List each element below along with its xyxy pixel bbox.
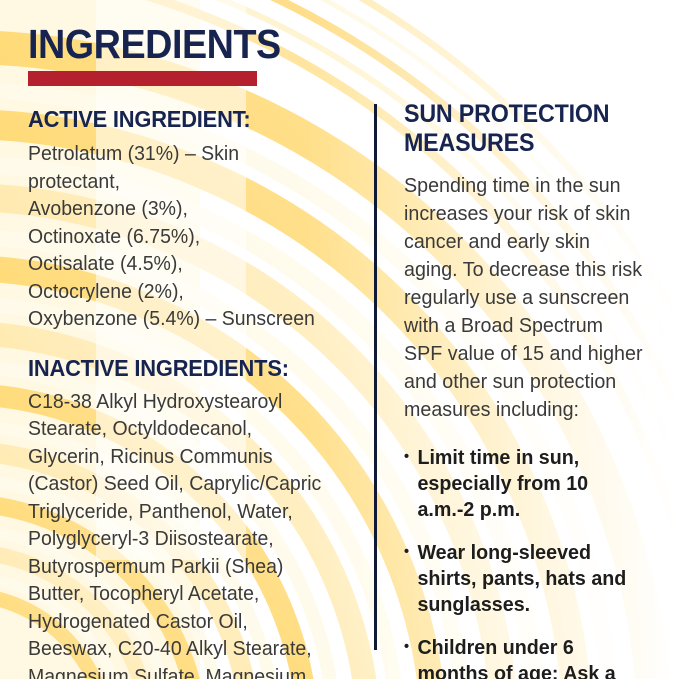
sun-protection-column: SUN PROTECTION MEASURES Spending time in… <box>404 100 654 679</box>
active-ingredient-item: Octisalate (4.5%), <box>28 250 324 278</box>
inactive-ingredients-heading: INACTIVE INGREDIENTS: <box>28 355 318 381</box>
list-item: Children under 6 months of age: Ask a do… <box>404 635 644 679</box>
active-ingredient-item: Avobenzone (3%), <box>28 195 324 223</box>
sun-protection-heading: SUN PROTECTION MEASURES <box>404 100 637 158</box>
list-item: Limit time in sun, especially from 10 a.… <box>404 445 644 523</box>
list-item: Wear long-sleeved shirts, pants, hats an… <box>404 540 644 618</box>
sun-protection-bullet-list: Limit time in sun, especially from 10 a.… <box>404 445 644 679</box>
inactive-ingredients-text: C18-38 Alkyl Hydroxystearoyl Stearate, O… <box>28 388 324 679</box>
column-divider <box>374 104 377 650</box>
active-ingredient-item: Petrolatum (31%) – Skin protectant, <box>28 140 324 195</box>
active-ingredient-item: Octinoxate (6.75%), <box>28 223 324 251</box>
ingredients-panel: INGREDIENTS ACTIVE INGREDIENT: Petrolatu… <box>0 0 679 679</box>
active-ingredient-list: Petrolatum (31%) – Skin protectant, Avob… <box>28 140 324 333</box>
title-underline-rule <box>28 71 257 86</box>
ingredients-column: INGREDIENTS ACTIVE INGREDIENT: Petrolatu… <box>28 22 340 679</box>
active-ingredient-heading: ACTIVE INGREDIENT: <box>28 106 318 132</box>
sun-protection-paragraph: Spending time in the sun increases your … <box>404 172 644 424</box>
page-title: INGREDIENTS <box>28 22 315 66</box>
active-ingredient-item: Oxybenzone (5.4%) – Sunscreen <box>28 305 324 333</box>
active-ingredient-item: Octocrylene (2%), <box>28 278 324 306</box>
